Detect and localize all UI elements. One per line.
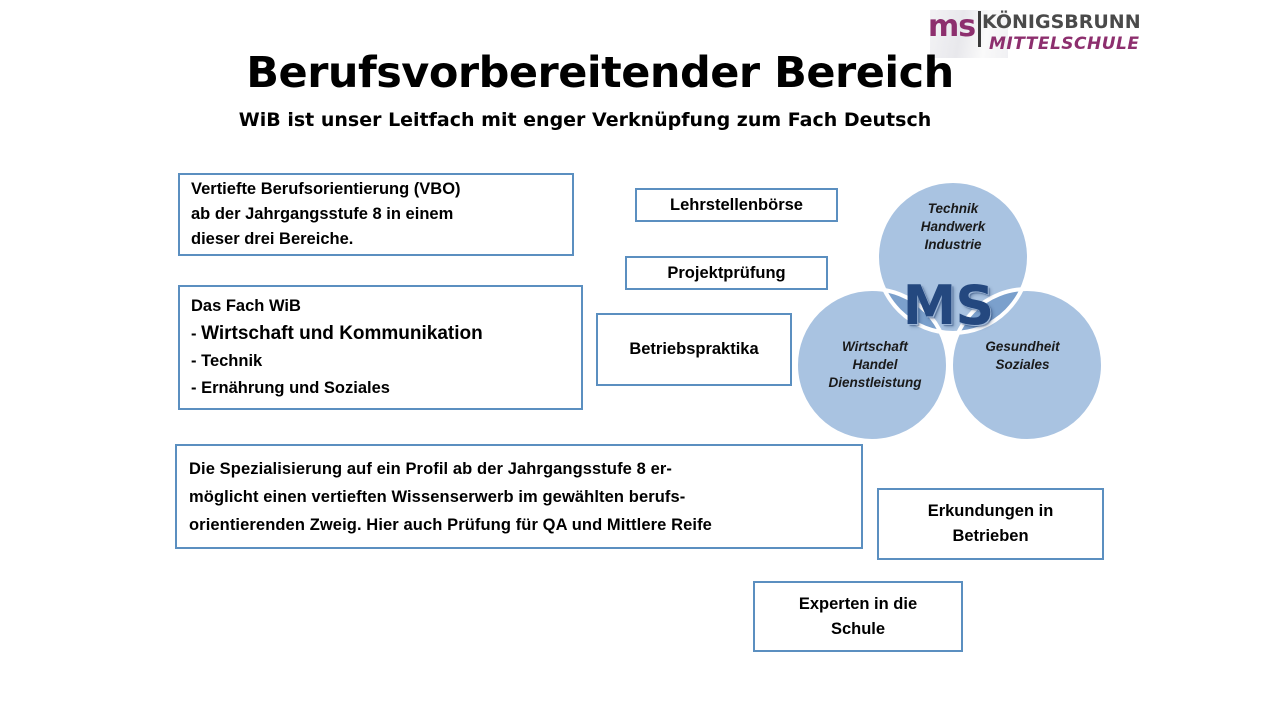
- venn-label-gesundheit-line-2: Soziales: [970, 356, 1075, 374]
- box-erkundungen-line-2: Betrieben: [952, 524, 1028, 549]
- box-vbo-line-3: dieser drei Bereiche.: [191, 227, 572, 252]
- box-spezialisierung[interactable]: Die Spezialisierung auf ein Profil ab de…: [175, 444, 863, 549]
- box-wib-item-2-dash: -: [191, 352, 197, 370]
- box-wib-item-technik: - Technik: [191, 348, 581, 375]
- box-vbo-line-2: ab der Jahrgangsstufe 8 in einem: [191, 202, 572, 227]
- venn-label-wirtschaft-line-2: Handel: [814, 356, 936, 374]
- box-wib-item-2-text: Technik: [201, 352, 262, 370]
- box-spezial-line-1: Die Spezialisierung auf ein Profil ab de…: [189, 455, 861, 483]
- box-vertiefte-berufsorientierung[interactable]: Vertiefte Berufsorientierung (VBO) ab de…: [178, 173, 574, 256]
- venn-label-gesundheit: Gesundheit Soziales: [970, 338, 1075, 374]
- box-experten-line-1: Experten in die: [799, 592, 917, 617]
- venn-label-wirtschaft-line-1: Wirtschaft: [814, 338, 936, 356]
- venn-label-technik: Technik Handwerk Industrie: [908, 200, 998, 254]
- venn-label-technik-line-3: Industrie: [908, 236, 998, 254]
- box-betriebspraktika-label: Betriebspraktika: [629, 340, 758, 359]
- box-lehrstellenboerse-label: Lehrstellenbörse: [670, 196, 803, 215]
- box-wib-item-wirtschaft: - Wirtschaft und Kommunikation: [191, 320, 581, 348]
- slide-canvas: ms KÖNIGSBRUNN MITTELSCHULE Berufsvorber…: [0, 0, 1280, 720]
- logo-divider-bar: [978, 11, 981, 47]
- box-wib-heading: Das Fach WiB: [191, 293, 581, 320]
- box-betriebspraktika[interactable]: Betriebspraktika: [596, 313, 792, 386]
- venn-diagram: Technik Handwerk Industrie Wirtschaft Ha…: [790, 172, 1110, 472]
- box-spezial-line-2: möglicht einen vertieften Wissenserwerb …: [189, 483, 861, 511]
- venn-center-label-ms: MS: [898, 278, 998, 334]
- box-experten-line-2: Schule: [831, 617, 885, 642]
- venn-label-gesundheit-line-1: Gesundheit: [970, 338, 1075, 356]
- box-das-fach-wib[interactable]: Das Fach WiB - Wirtschaft und Kommunikat…: [178, 285, 583, 410]
- box-wib-item-1-text: Wirtschaft und Kommunikation: [201, 323, 483, 344]
- logo-city-text: KÖNIGSBRUNN: [982, 12, 1141, 32]
- venn-label-technik-line-2: Handwerk: [908, 218, 998, 236]
- box-experten-in-die-schule[interactable]: Experten in die Schule: [753, 581, 963, 652]
- venn-label-technik-line-1: Technik: [908, 200, 998, 218]
- box-spezial-line-3: orientierenden Zweig. Hier auch Prüfung …: [189, 511, 861, 539]
- box-wib-item-3-text: Ernährung und Soziales: [201, 379, 390, 397]
- box-wib-item-3-dash: -: [191, 379, 197, 397]
- logo-ms-text: ms: [928, 12, 975, 42]
- box-vbo-line-1: Vertiefte Berufsorientierung (VBO): [191, 177, 572, 202]
- page-subtitle: WiB ist unser Leitfach mit enger Verknüp…: [0, 106, 1170, 134]
- venn-label-wirtschaft-line-3: Dienstleistung: [814, 374, 936, 392]
- box-erkundungen-line-1: Erkundungen in: [928, 499, 1054, 524]
- venn-label-wirtschaft: Wirtschaft Handel Dienstleistung: [814, 338, 936, 392]
- box-erkundungen-in-betrieben[interactable]: Erkundungen in Betrieben: [877, 488, 1104, 560]
- box-wib-item-ernaehrung: - Ernährung und Soziales: [191, 375, 581, 402]
- box-projektpruefung-label: Projektprüfung: [667, 264, 785, 283]
- page-title: Berufsvorbereitender Bereich: [0, 47, 1200, 99]
- box-wib-item-1-dash: -: [191, 325, 197, 343]
